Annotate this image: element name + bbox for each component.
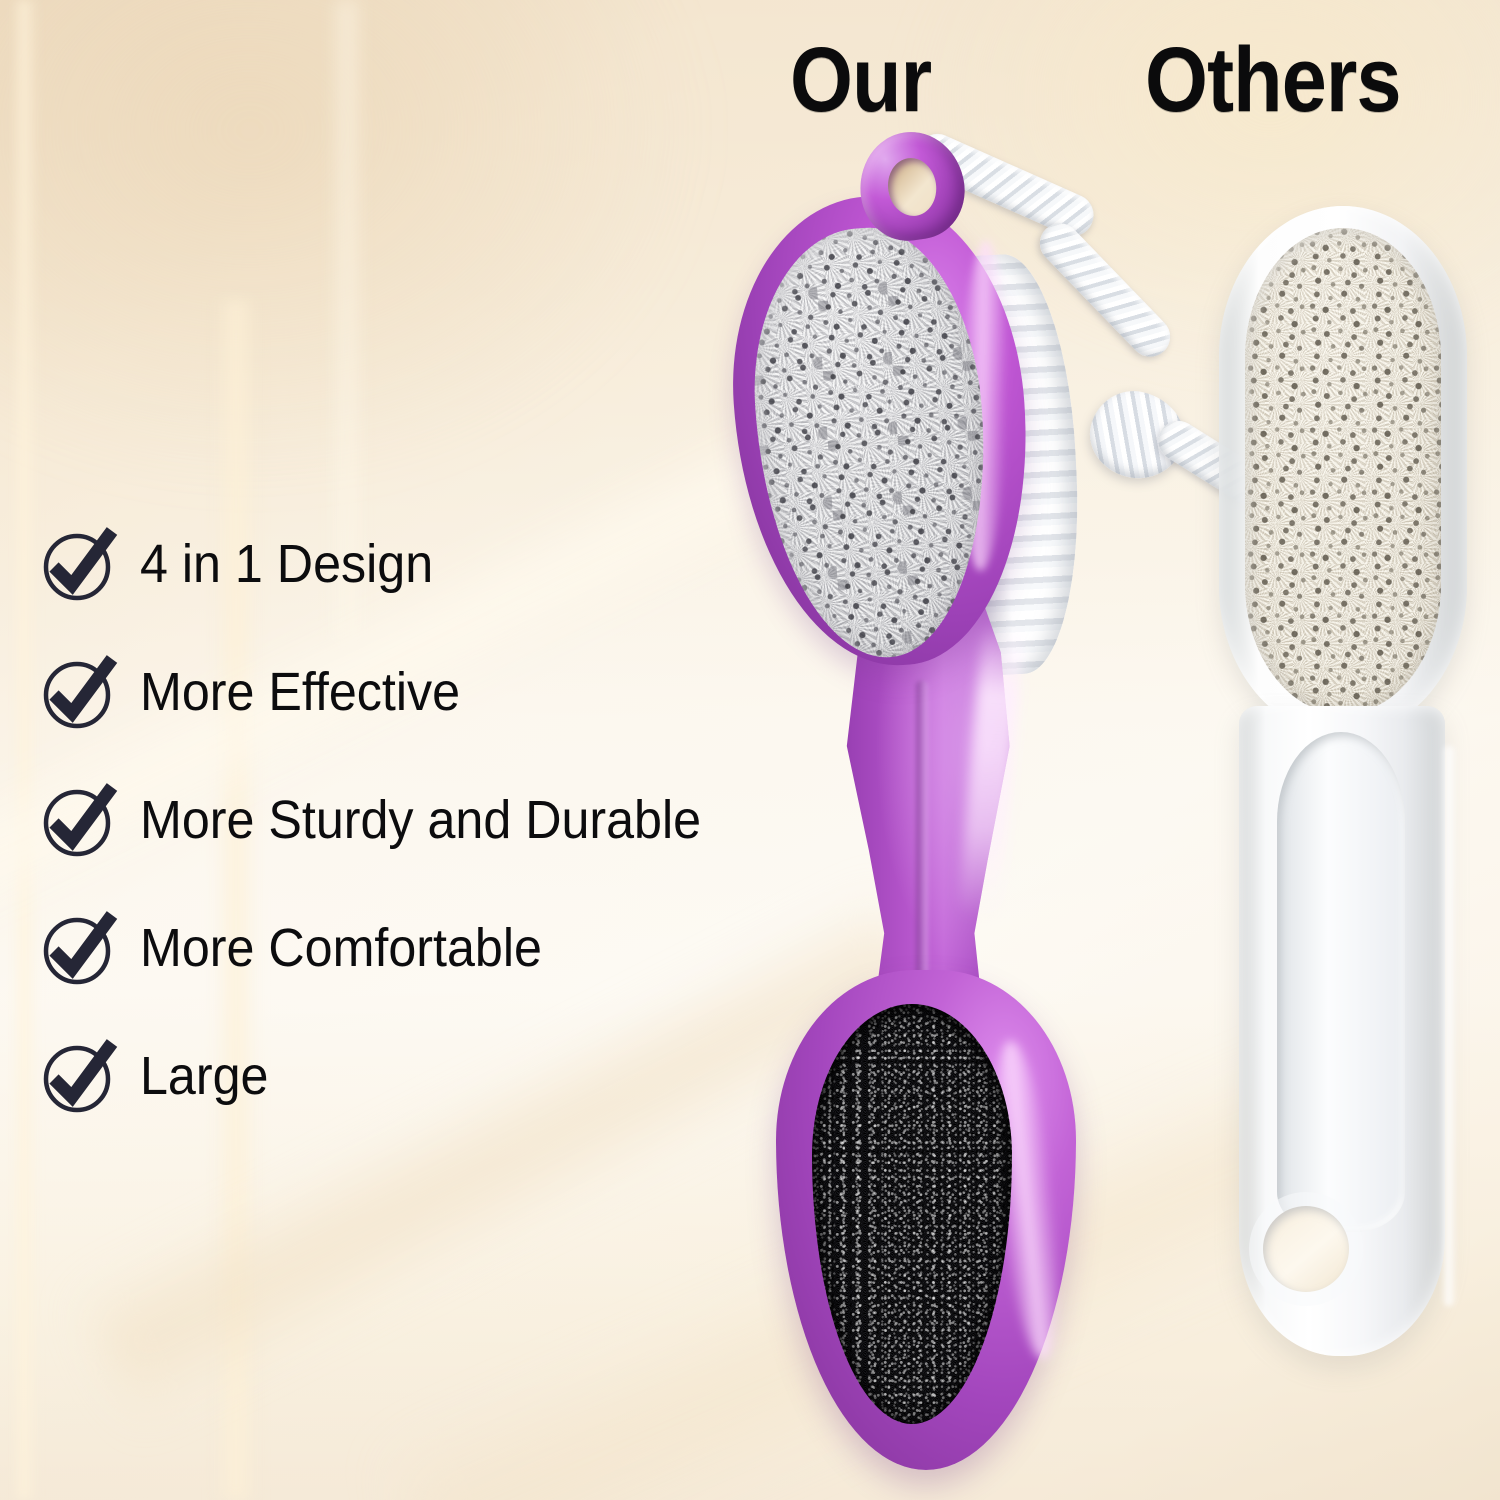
check-circle-icon [40,783,114,857]
feature-label: Large [140,1048,268,1105]
feature-label: More Effective [140,664,460,721]
feature-item-4-in-1-design: 4 in 1 Design [40,500,780,628]
backdrop-streak-vertical-left [12,0,38,1500]
feature-label: More Sturdy and Durable [140,792,701,849]
check-circle-icon [40,1039,114,1113]
others-holder-head [1219,206,1467,736]
our-product-image [720,120,1220,1490]
check-circle-icon [40,527,114,601]
heading-our: Our [790,34,931,126]
feature-list: 4 in 1 Design More Effective More Sturdy… [40,500,780,1140]
others-product-image [1195,206,1500,1386]
check-circle-icon [40,655,114,729]
feature-item-large: Large [40,1012,780,1140]
others-hanging-hole [1263,1206,1349,1292]
feature-item-more-effective: More Effective [40,628,780,756]
feature-label: 4 in 1 Design [140,536,433,593]
pumice-stone-pad-others [1245,228,1441,714]
feature-label: More Comfortable [140,920,542,977]
heading-others: Others [1145,34,1401,126]
infographic-canvas: Our Others 4 in 1 Design More Effective [0,0,1500,1500]
check-circle-icon [40,911,114,985]
backdrop-glow-top-left [0,0,700,480]
feature-item-more-sturdy-and-durable: More Sturdy and Durable [40,756,780,884]
feature-item-more-comfortable: More Comfortable [40,884,780,1012]
emery-board-pad [812,1004,1012,1424]
handle-paddle [776,970,1076,1470]
others-edge-highlight [1441,746,1457,1306]
others-grip-channel [1277,732,1405,1232]
hanging-loop-hole [884,155,940,219]
